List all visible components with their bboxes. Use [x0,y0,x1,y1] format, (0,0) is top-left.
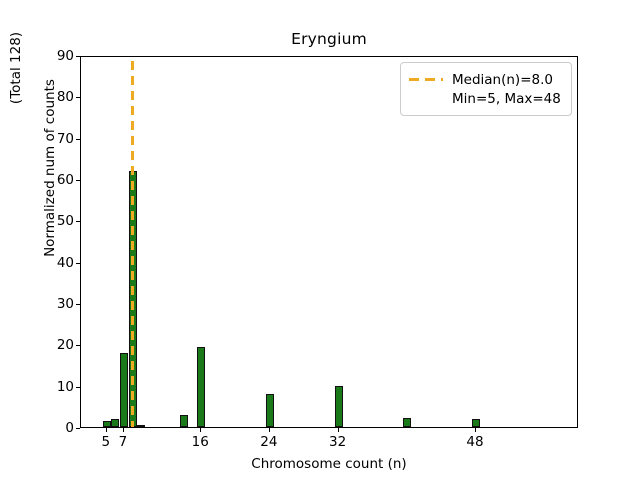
y-tick-label: 30 [0,296,74,312]
y-tick-label: 50 [0,213,74,229]
x-tick-label: 5 [101,434,110,450]
x-tick-mark [200,428,201,432]
x-tick-mark [269,428,270,432]
y-tick-label: 60 [0,172,74,188]
x-tick-label: 32 [329,434,346,450]
chart-title: Eryngium [80,30,578,48]
x-tick-mark [106,428,107,432]
y-tick-mark [76,428,80,429]
legend-box: Median(n)=8.0 Min=5, Max=48 [400,62,572,116]
legend-entry-minmax: Min=5, Max=48 [409,89,563,108]
legend-entry-median: Median(n)=8.0 [409,70,563,89]
y-tick-label: 70 [0,131,74,147]
legend-label-minmax: Min=5, Max=48 [452,91,561,107]
figure-canvas: Eryngium Normalized num of counts (Total… [0,0,640,480]
y-tick-label: 10 [0,379,74,395]
x-tick-label: 48 [466,434,483,450]
x-tick-mark [338,428,339,432]
y-tick-label: 0 [0,420,74,436]
y-tick-label: 40 [0,255,74,271]
y-tick-label: 90 [0,48,74,64]
legend-label-median: Median(n)=8.0 [452,72,553,88]
x-tick-label: 7 [119,434,128,450]
median-line [131,61,134,427]
x-tick-mark [475,428,476,432]
y-tick-label: 20 [0,337,74,353]
x-tick-label: 24 [260,434,277,450]
dashed-line-icon [409,78,443,81]
x-axis-label: Chromosome count (n) [80,456,578,472]
y-tick-label: 80 [0,89,74,105]
legend-spacer [409,97,443,100]
x-tick-mark [123,428,124,432]
x-tick-label: 16 [192,434,209,450]
